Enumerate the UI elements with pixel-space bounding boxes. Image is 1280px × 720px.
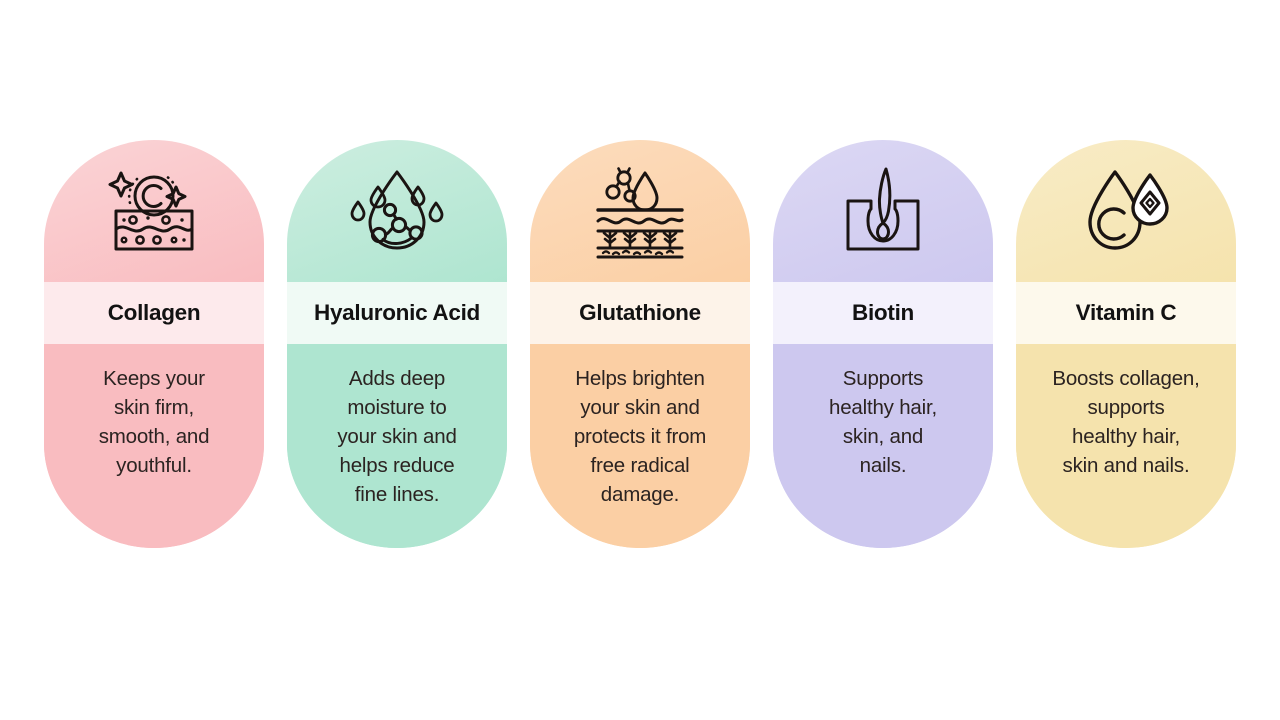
- infographic-board: CollagenKeeps your skin firm, smooth, an…: [0, 0, 1280, 720]
- water-droplet-molecule-icon: [345, 165, 449, 257]
- description-zone-glutathione: Helps brighten your skin and protects it…: [530, 344, 750, 548]
- icon-zone-vitamin-c: [1016, 140, 1236, 282]
- icon-zone-hyaluronic-acid: [287, 140, 507, 282]
- icon-zone-biotin: [773, 140, 993, 282]
- icon-zone-glutathione: [530, 140, 750, 282]
- ingredient-card-glutathione[interactable]: GlutathioneHelps brighten your skin and …: [530, 140, 750, 548]
- title-band-biotin: Biotin: [773, 282, 993, 344]
- hair-follicle-icon: [831, 165, 935, 257]
- ingredient-card-row: CollagenKeeps your skin firm, smooth, an…: [0, 140, 1280, 550]
- title-band-collagen: Collagen: [44, 282, 264, 344]
- description-zone-biotin: Supports healthy hair, skin, and nails.: [773, 344, 993, 548]
- card-description: Helps brighten your skin and protects it…: [542, 364, 738, 548]
- description-zone-vitamin-c: Boosts collagen, supports healthy hair, …: [1016, 344, 1236, 548]
- card-title: Glutathione: [579, 302, 701, 325]
- title-band-vitamin-c: Vitamin C: [1016, 282, 1236, 344]
- description-zone-hyaluronic-acid: Adds deep moisture to your skin and help…: [287, 344, 507, 548]
- card-title: Biotin: [852, 302, 914, 325]
- description-zone-collagen: Keeps your skin firm, smooth, and youthf…: [44, 344, 264, 548]
- ingredient-card-biotin[interactable]: BiotinSupports healthy hair, skin, and n…: [773, 140, 993, 548]
- ingredient-card-vitamin-c[interactable]: Vitamin CBoosts collagen, supports healt…: [1016, 140, 1236, 548]
- icon-zone-collagen: [44, 140, 264, 282]
- vitamin-c-droplet-icon: [1074, 165, 1178, 257]
- collagen-skin-layers-icon: [102, 165, 206, 257]
- skin-antioxidant-layers-icon: [588, 165, 692, 257]
- card-title: Vitamin C: [1076, 302, 1177, 325]
- title-band-hyaluronic-acid: Hyaluronic Acid: [287, 282, 507, 344]
- card-title: Collagen: [108, 302, 201, 325]
- card-description: Keeps your skin firm, smooth, and youthf…: [56, 364, 252, 548]
- ingredient-card-hyaluronic-acid[interactable]: Hyaluronic AcidAdds deep moisture to you…: [287, 140, 507, 548]
- card-description: Boosts collagen, supports healthy hair, …: [1028, 364, 1224, 548]
- ingredient-card-collagen[interactable]: CollagenKeeps your skin firm, smooth, an…: [44, 140, 264, 548]
- card-description: Supports healthy hair, skin, and nails.: [785, 364, 981, 548]
- card-description: Adds deep moisture to your skin and help…: [299, 364, 495, 548]
- card-title: Hyaluronic Acid: [314, 302, 480, 325]
- title-band-glutathione: Glutathione: [530, 282, 750, 344]
